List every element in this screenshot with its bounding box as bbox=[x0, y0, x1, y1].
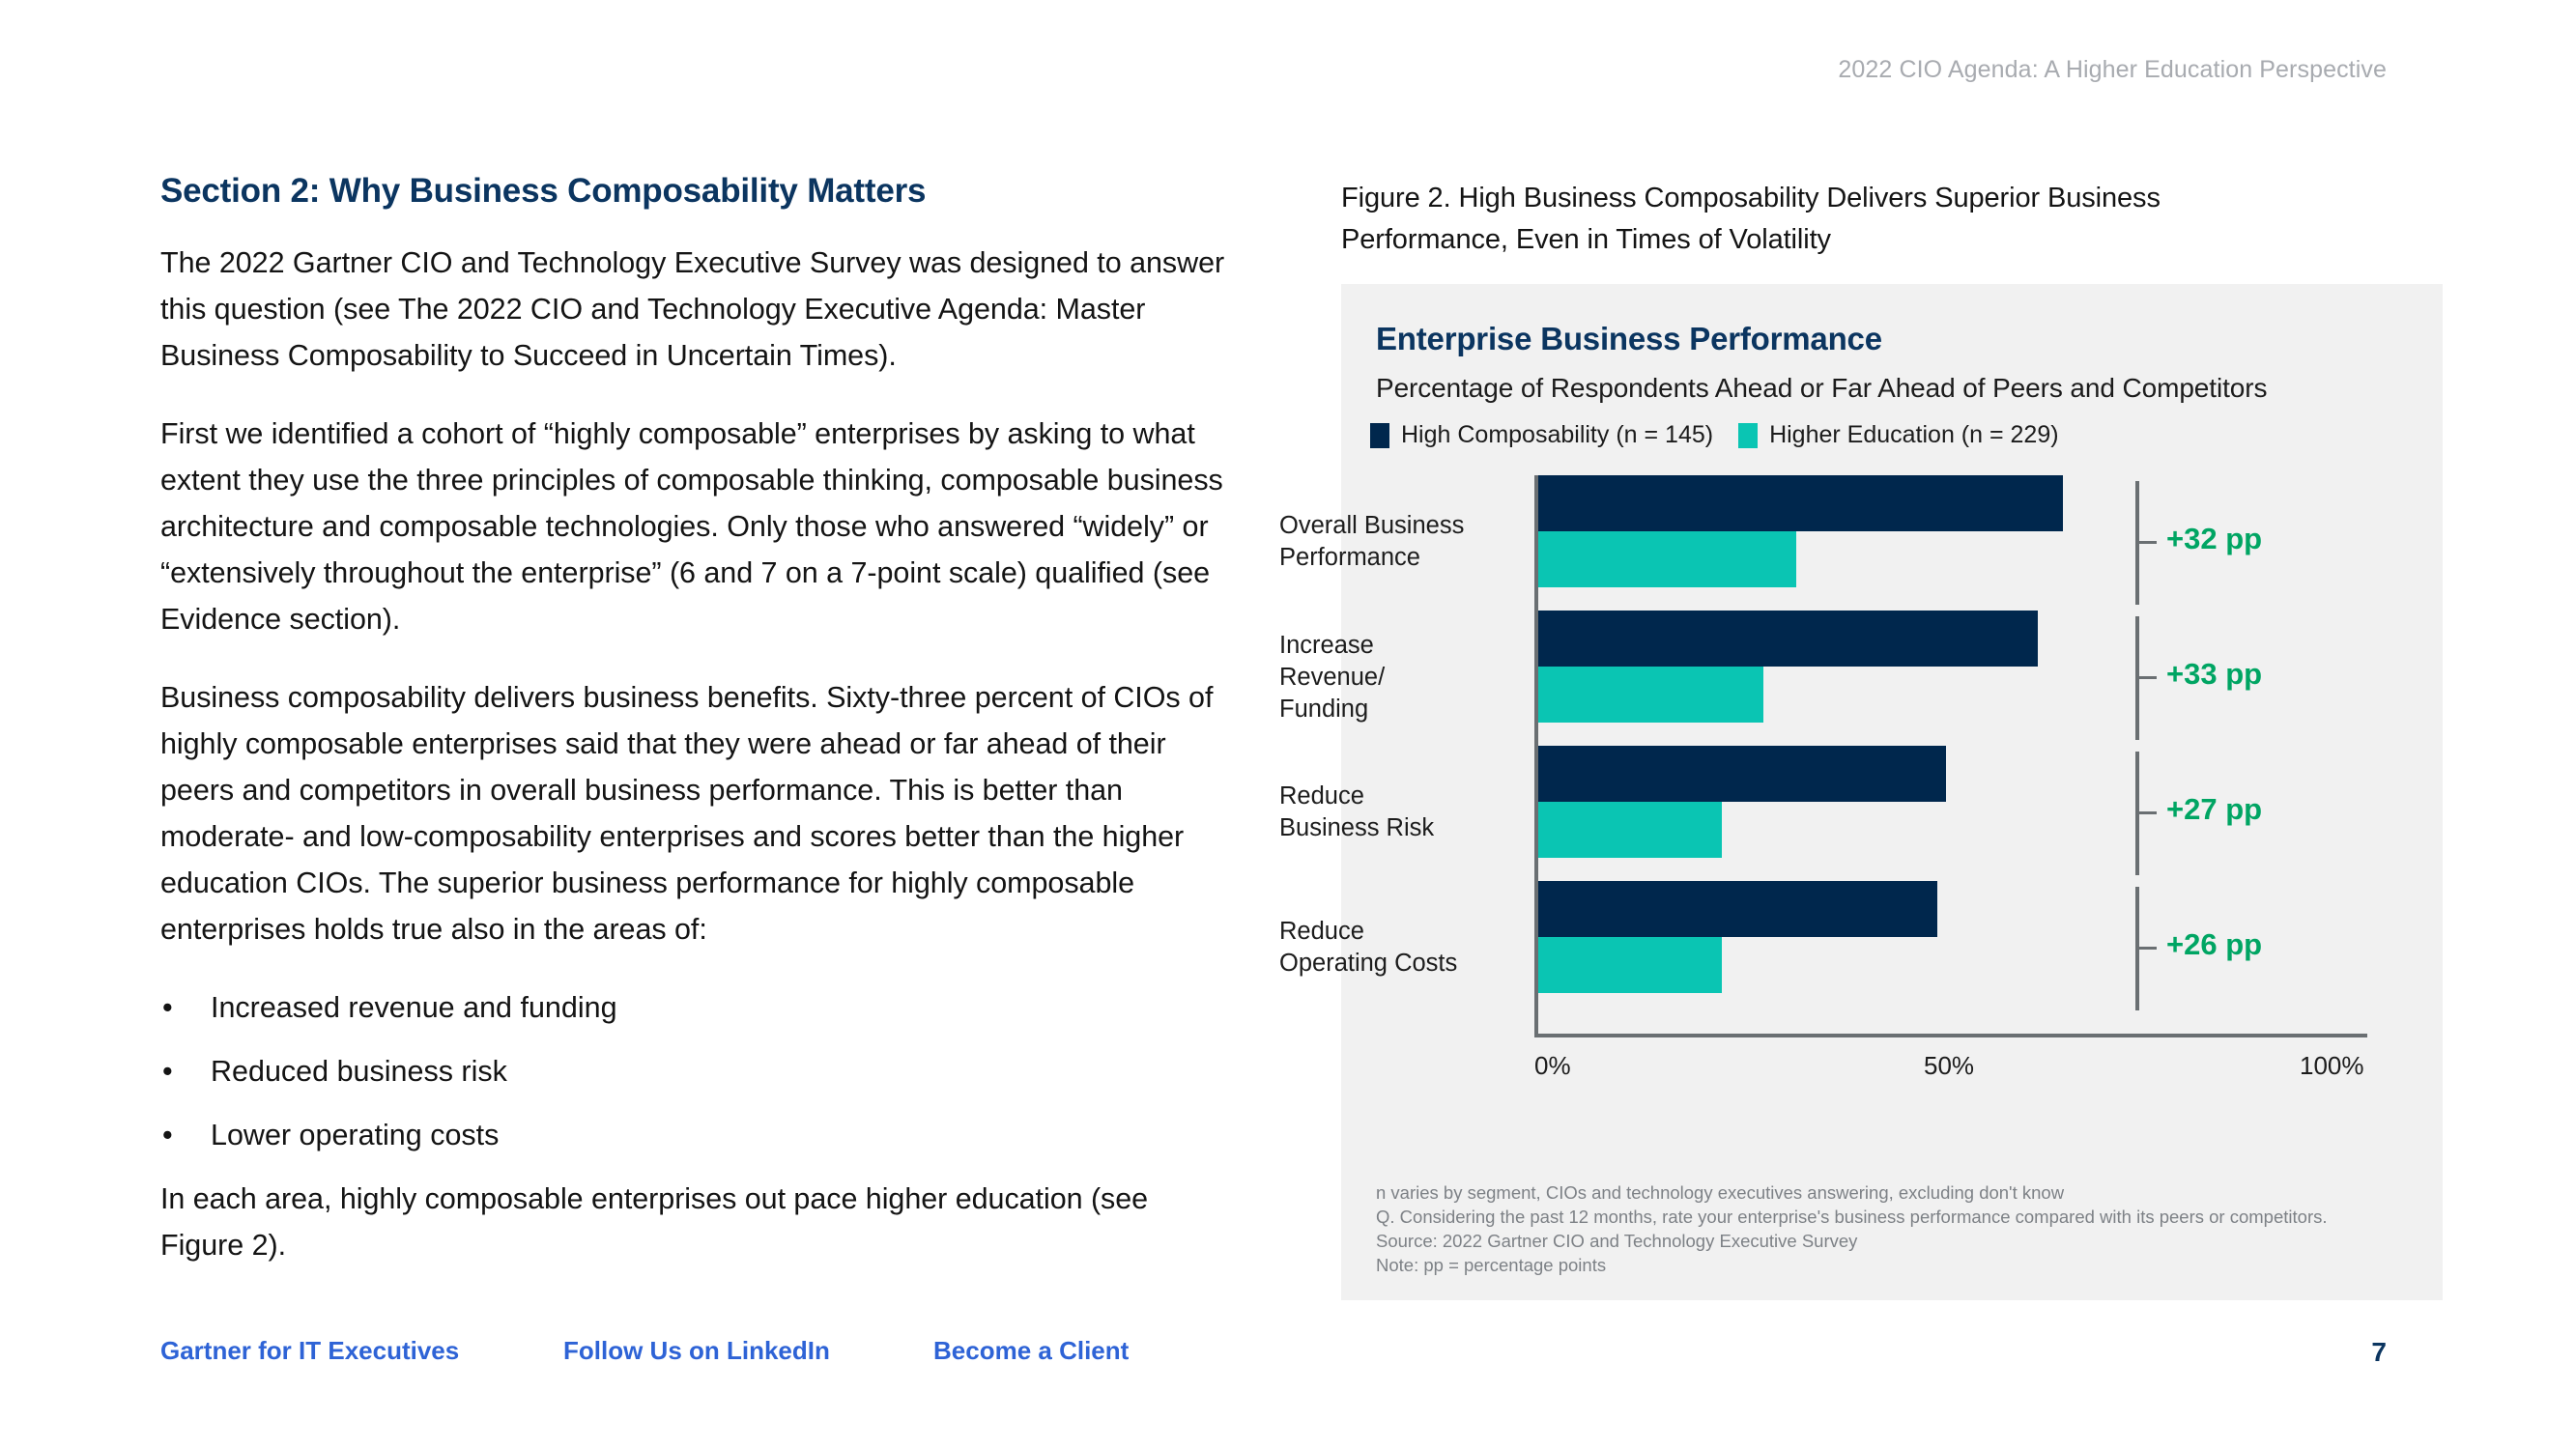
legend-swatch-icon bbox=[1370, 423, 1389, 448]
footnote-source: Source: 2022 Gartner CIO and Technology … bbox=[1376, 1229, 2419, 1253]
delta-label: +26 pp bbox=[2166, 927, 2262, 962]
chart-subtitle: Percentage of Respondents Ahead or Far A… bbox=[1376, 373, 2267, 404]
bar-higher-education[interactable] bbox=[1538, 531, 1796, 587]
category-label: Overall Business Performance bbox=[1279, 510, 1511, 574]
bullet-dot-icon: • bbox=[162, 1048, 173, 1094]
category-label: Reduce Business Risk bbox=[1279, 781, 1511, 844]
list-item-label: Reduced business risk bbox=[211, 1055, 507, 1088]
footer-link-follow-us-on-linkedin[interactable]: Follow Us on LinkedIn bbox=[563, 1336, 933, 1366]
delta-label: +27 pp bbox=[2166, 792, 2262, 827]
x-tick-label-100: 100% bbox=[2300, 1051, 2364, 1081]
closing-paragraph: In each area, highly composable enterpri… bbox=[160, 1176, 1233, 1268]
list-item: • Lower operating costs bbox=[160, 1112, 1233, 1158]
bar-higher-education[interactable] bbox=[1538, 937, 1722, 993]
chart-plot-area: Overall Business Performance Increase Re… bbox=[1534, 475, 2404, 1171]
footer-link-gartner-for-it-executives[interactable]: Gartner for IT Executives bbox=[160, 1336, 563, 1366]
delta-tick bbox=[2139, 811, 2157, 814]
footnote-n-varies: n varies by segment, CIOs and technology… bbox=[1376, 1180, 2419, 1205]
bar-high-composability[interactable] bbox=[1538, 881, 1937, 937]
legend-swatch-icon bbox=[1738, 423, 1758, 448]
category-label: Increase Revenue/ Funding bbox=[1279, 630, 1511, 725]
body-paragraph-1: The 2022 Gartner CIO and Technology Exec… bbox=[160, 240, 1233, 379]
delta-tick bbox=[2139, 947, 2157, 950]
chart-panel: Enterprise Business Performance Percenta… bbox=[1341, 284, 2443, 1300]
list-item: • Increased revenue and funding bbox=[160, 984, 1233, 1031]
legend-label: High Composability (n = 145) bbox=[1401, 421, 1713, 449]
chart-legend: High Composability (n = 145) Higher Educ… bbox=[1370, 421, 2059, 449]
delta-tick bbox=[2139, 541, 2157, 544]
page-number: 7 bbox=[2371, 1337, 2387, 1368]
category-label: Reduce Operating Costs bbox=[1279, 916, 1511, 980]
bar-higher-education[interactable] bbox=[1538, 802, 1722, 858]
footnote-question: Q. Considering the past 12 months, rate … bbox=[1376, 1205, 2419, 1229]
list-item: • Reduced business risk bbox=[160, 1048, 1233, 1094]
legend-label: Higher Education (n = 229) bbox=[1769, 421, 2059, 449]
bullet-dot-icon: • bbox=[162, 984, 173, 1031]
list-item-label: Increased revenue and funding bbox=[211, 991, 617, 1024]
footer-links: Gartner for IT Executives Follow Us on L… bbox=[160, 1336, 1129, 1366]
x-tick-label-0: 0% bbox=[1534, 1051, 1571, 1081]
delta-label: +32 pp bbox=[2166, 522, 2262, 556]
bullet-dot-icon: • bbox=[162, 1112, 173, 1158]
running-header: 2022 CIO Agenda: A Higher Education Pers… bbox=[1838, 56, 2387, 84]
benefits-bullet-list: • Increased revenue and funding • Reduce… bbox=[160, 984, 1233, 1158]
chart-footnotes: n varies by segment, CIOs and technology… bbox=[1376, 1180, 2419, 1277]
document-page: 2022 CIO Agenda: A Higher Education Pers… bbox=[0, 0, 2576, 1449]
body-paragraph-3: Business composability delivers business… bbox=[160, 674, 1233, 952]
left-text-column: Section 2: Why Business Composability Ma… bbox=[160, 172, 1233, 1300]
body-paragraph-2: First we identified a cohort of “highly … bbox=[160, 411, 1233, 642]
bar-high-composability[interactable] bbox=[1538, 746, 1946, 802]
legend-entry-high-composability: High Composability (n = 145) bbox=[1370, 421, 1713, 449]
delta-tick bbox=[2139, 676, 2157, 679]
x-tick-label-50: 50% bbox=[1924, 1051, 1974, 1081]
bar-high-composability[interactable] bbox=[1538, 611, 2038, 667]
bar-higher-education[interactable] bbox=[1538, 667, 1763, 723]
footnote-note: Note: pp = percentage points bbox=[1376, 1253, 2419, 1277]
delta-label: +33 pp bbox=[2166, 657, 2262, 692]
list-item-label: Lower operating costs bbox=[211, 1119, 499, 1151]
legend-entry-higher-education: Higher Education (n = 229) bbox=[1738, 421, 2059, 449]
chart-title: Enterprise Business Performance bbox=[1376, 321, 1882, 357]
figure-caption: Figure 2. High Business Composability De… bbox=[1341, 178, 2307, 261]
section-heading: Section 2: Why Business Composability Ma… bbox=[160, 172, 1233, 211]
bar-high-composability[interactable] bbox=[1538, 475, 2063, 531]
x-axis-line bbox=[1534, 1034, 2367, 1037]
footer-link-become-a-client[interactable]: Become a Client bbox=[933, 1336, 1129, 1366]
